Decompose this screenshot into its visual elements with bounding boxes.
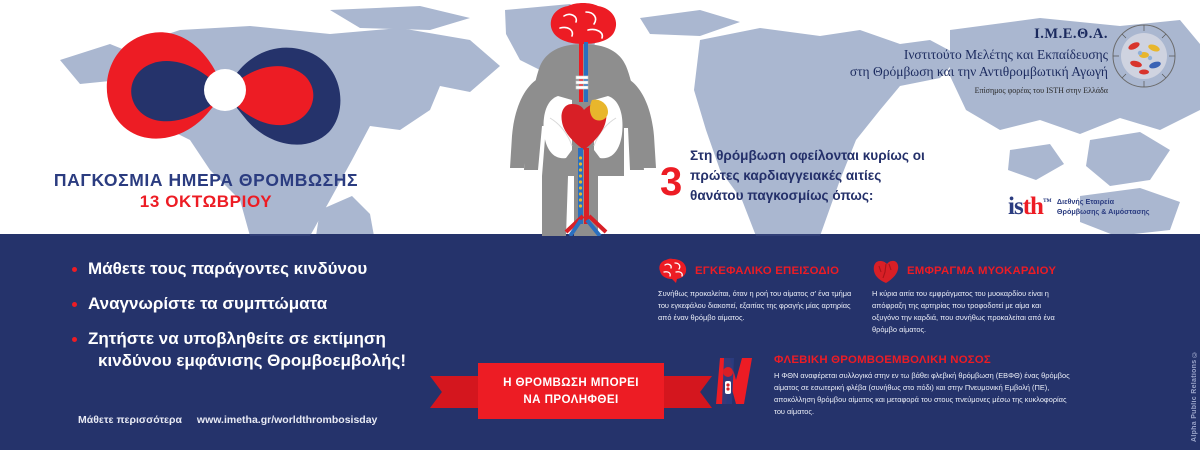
ribbon-line2: ΝΑ ΠΡΟΛΗΦΘΕΙ: [523, 391, 618, 408]
statistic-text: Στη θρόμβωση οφείλονται κυρίως οι πρώτες…: [690, 146, 990, 206]
org-name-line2: στη Θρόμβωση και την Αντιθρομβωτική Αγωγ…: [808, 64, 1108, 80]
card-header: ΕΜΦΡΑΓΜΑ ΜΥΟΚΑΡΔΙΟΥ: [872, 258, 1068, 284]
campaign-url[interactable]: www.imetha.gr/worldthrombosisday: [197, 414, 377, 426]
statistic-line3: θανάτου παγκοσμίως όπως:: [690, 186, 990, 206]
seal-svg: [1110, 22, 1178, 90]
learn-more-label: Μάθετε περισσότερα: [78, 414, 182, 426]
card-title: ΕΜΦΡΑΓΜΑ ΜΥΟΚΑΡΔΙΟΥ: [907, 265, 1056, 277]
trademark-symbol: ™: [1043, 197, 1051, 207]
statistic-block: 3 Στη θρόμβωση οφείλονται κυρίως οι πρώτ…: [660, 146, 990, 206]
statistic-line2: πρώτες καρδιαγγειακές αιτίες: [690, 166, 990, 186]
heart-icon: [872, 258, 900, 284]
statistic-line1: Στη θρόμβωση οφείλονται κυρίως οι: [690, 146, 990, 166]
learn-more-row: Μάθετε περισσότερα www.imetha.gr/worldth…: [78, 414, 377, 426]
card-title: ΦΛΕΒΙΚΗ ΘΡΟΜΒΟΕΜΒΟΛΙΚΗ ΝΟΣΟΣ: [774, 354, 991, 366]
bullet-text: Αναγνωρίστε τα συμπτώματα: [88, 293, 327, 315]
org-acronym: Ι.Μ.Ε.Θ.Α.: [808, 26, 1108, 43]
page-title: ΠΑΓΚΟΣΜΙΑ ΗΜΕΡΑ ΘΡΟΜΒΩΣΗΣ: [36, 170, 376, 191]
condition-card-myocardial-infarction: ΕΜΦΡΑΓΜΑ ΜΥΟΚΑΡΔΙΟΥ Η κύρια αιτία του εμ…: [872, 258, 1068, 336]
isth-subtitle-line1: Διεθνής Εταιρεία: [1057, 197, 1150, 207]
card-header: ΦΛΕΒΙΚΗ ΘΡΟΜΒΟΕΜΒΟΛΙΚΗ ΝΟΣΟΣ: [774, 354, 1070, 366]
statistic-number: 3: [660, 162, 682, 202]
infographic-poster: ΠΑΓΚΟΣΜΙΑ ΗΜΕΡΑ ΘΡΟΜΒΩΣΗΣ 13 ΟΚΤΩΒΡΙΟΥ: [0, 0, 1200, 450]
bullet-text: Μάθετε τους παράγοντες κινδύνου: [88, 258, 367, 280]
card-body-text: Η κύρια αιτία του εμφράγματος του μυοκαρ…: [872, 288, 1068, 336]
isth-subtitle: Διεθνής Εταιρεία Θρόμβωσης & Αιμόστασης: [1057, 197, 1150, 216]
bullet-line1: Ζητήστε να υποβληθείτε σε εκτίμηση: [88, 329, 386, 348]
org-tagline: Επίσημος φορέας του ISTH στην Ελλάδα: [808, 86, 1108, 95]
bullet-dot-icon: [72, 267, 77, 272]
brain-icon: [658, 258, 688, 284]
bullet-dot-icon: [72, 337, 77, 342]
list-item: Ζητήστε να υποβληθείτε σε εκτίμηση κινδύ…: [72, 328, 492, 372]
action-bullet-list: Μάθετε τους παράγοντες κινδύνου Αναγνωρί…: [72, 258, 492, 385]
list-item: Αναγνωρίστε τα συμπτώματα: [72, 293, 492, 315]
card-header: ΕΓΚΕΦΑΛΙΚΟ ΕΠΕΙΣΟΔΙΟ: [658, 258, 858, 284]
card-title: ΕΓΚΕΦΑΛΙΚΟ ΕΠΕΙΣΟΔΙΟ: [695, 265, 839, 277]
bullet-line2: κινδύνου εμφάνισης Θρομβοεμβολής!: [98, 350, 406, 372]
condition-card-stroke: ΕΓΚΕΦΑΛΙΚΟ ΕΠΕΙΣΟΔΙΟ Συνήθως προκαλείται…: [658, 258, 858, 324]
infinity-ribbon-svg: [75, 18, 375, 168]
bullet-line1: Αναγνωρίστε τα συμπτώματα: [88, 294, 327, 313]
bullet-line1: Μάθετε τους παράγοντες κινδύνου: [88, 259, 367, 278]
list-item: Μάθετε τους παράγοντες κινδύνου: [72, 258, 492, 280]
bullet-text: Ζητήστε να υποβληθείτε σε εκτίμηση κινδύ…: [88, 328, 406, 372]
isth-subtitle-line2: Θρόμβωσης & Αιμόστασης: [1057, 207, 1150, 217]
card-body-text: Η ΦΘΝ αναφέρεται συλλογικά στην εν τω βά…: [774, 370, 1070, 418]
anatomy-svg: [488, 0, 678, 236]
human-circulatory-figure: [488, 0, 678, 236]
world-thrombosis-day-infinity-logo: [75, 18, 375, 168]
ribbon-tail-left: [430, 376, 484, 408]
ribbon-body: Η ΘΡΟΜΒΩΣΗ ΜΠΟΡΕΙ ΝΑ ΠΡΟΛΗΦΘΕΙ: [478, 363, 664, 419]
card-body-text: Συνήθως προκαλείται, όταν η ροή του αίμα…: [658, 288, 858, 324]
credit-text: Alpha Public Relations ©: [1191, 350, 1198, 442]
ribbon-tail-right: [658, 376, 712, 408]
condition-card-vte: ΦΛΕΒΙΚΗ ΘΡΟΜΒΟΕΜΒΟΛΙΚΗ ΝΟΣΟΣ Η ΦΘΝ αναφέ…: [714, 354, 1070, 418]
campaign-date: 13 ΟΚΤΩΒΡΙΟΥ: [36, 192, 376, 212]
isth-mark-is: is: [1008, 193, 1023, 220]
bullet-dot-icon: [72, 302, 77, 307]
ribbon-line1: Η ΘΡΟΜΒΩΣΗ ΜΠΟΡΕΙ: [503, 374, 639, 391]
isth-logo-block: isth™ Διεθνής Εταιρεία Θρόμβωσης & Αιμόσ…: [1008, 194, 1186, 219]
isth-mark-th: th: [1023, 193, 1043, 220]
prevention-ribbon-banner: Η ΘΡΟΜΒΩΣΗ ΜΠΟΡΕΙ ΝΑ ΠΡΟΛΗΦΘΕΙ: [430, 358, 712, 428]
org-name-line1: Ινστιτούτο Μελέτης και Εκπαίδευσης: [808, 47, 1108, 63]
isth-wordmark: isth™: [1008, 194, 1051, 219]
vein-thrombus-icon: [714, 356, 766, 406]
imetha-circular-seal: [1110, 22, 1178, 90]
organization-header: Ι.Μ.Ε.Θ.Α. Ινστιτούτο Μελέτης και Εκπαίδ…: [808, 26, 1108, 95]
